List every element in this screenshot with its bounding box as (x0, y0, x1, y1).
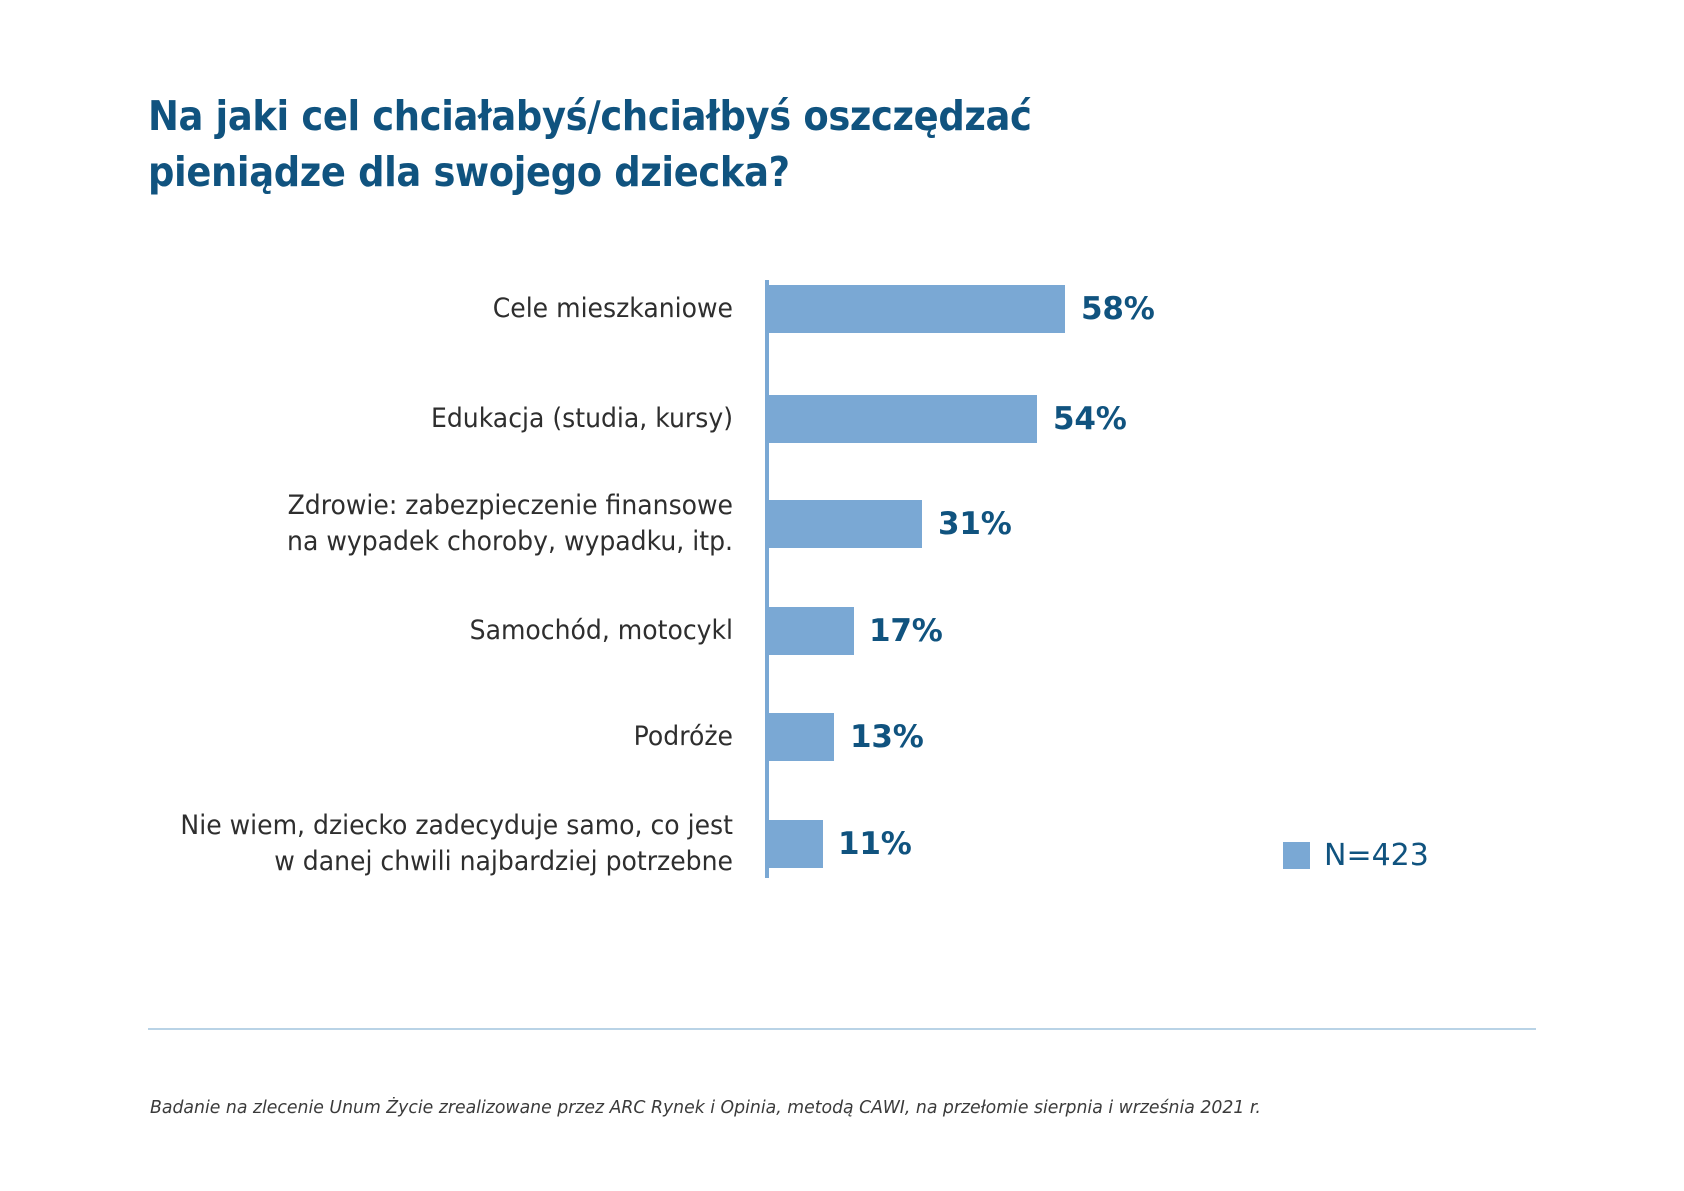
bar-value-label: 54% (1053, 395, 1127, 443)
category-label: Edukacja (studia, kursy) (156, 401, 733, 437)
bar-segment[interactable] (766, 395, 1037, 443)
bar-segment[interactable] (766, 285, 1065, 333)
category-axis-line (765, 280, 769, 878)
bar-segment[interactable] (766, 607, 854, 655)
category-label: Cele mieszkaniowe (156, 291, 733, 327)
plot-area: Cele mieszkaniowe 58% Edukacja (studia, … (0, 268, 1684, 888)
legend-swatch-icon (1283, 842, 1310, 869)
bar-segment[interactable] (766, 500, 922, 548)
bar-row: Samochód, motocykl 17% (0, 600, 1684, 662)
category-label: Samochód, motocykl (156, 613, 733, 649)
legend-label: N=423 (1324, 838, 1429, 873)
bar-value-label: 13% (850, 713, 924, 761)
bar-row: Edukacja (studia, kursy) 54% (0, 388, 1684, 450)
bar-row: Zdrowie: zabezpieczenie finansowe na wyp… (0, 493, 1684, 555)
legend: N=423 (1283, 838, 1429, 873)
footer-divider (148, 1028, 1536, 1030)
bar-segment[interactable] (766, 713, 834, 761)
bar-segment[interactable] (766, 820, 823, 868)
page-title: Na jaki cel chciałabyś/chciałbyś oszczęd… (148, 88, 1138, 200)
bar-row: Podróże 13% (0, 706, 1684, 768)
bar-row: Cele mieszkaniowe 58% (0, 278, 1684, 340)
bar-row: Nie wiem, dziecko zadecyduje samo, co je… (0, 813, 1684, 875)
category-label: Podróże (156, 719, 733, 755)
bar-value-label: 17% (869, 607, 943, 655)
category-label: Nie wiem, dziecko zadecyduje samo, co je… (156, 808, 733, 880)
bar-value-label: 58% (1081, 285, 1155, 333)
footnote: Badanie na zlecenie Unum Życie zrealizow… (150, 1096, 1261, 1120)
chart-canvas: Na jaki cel chciałabyś/chciałbyś oszczęd… (0, 0, 1684, 1191)
bar-value-label: 11% (838, 820, 912, 868)
category-label: Zdrowie: zabezpieczenie finansowe na wyp… (156, 488, 733, 560)
bar-value-label: 31% (938, 500, 1012, 548)
